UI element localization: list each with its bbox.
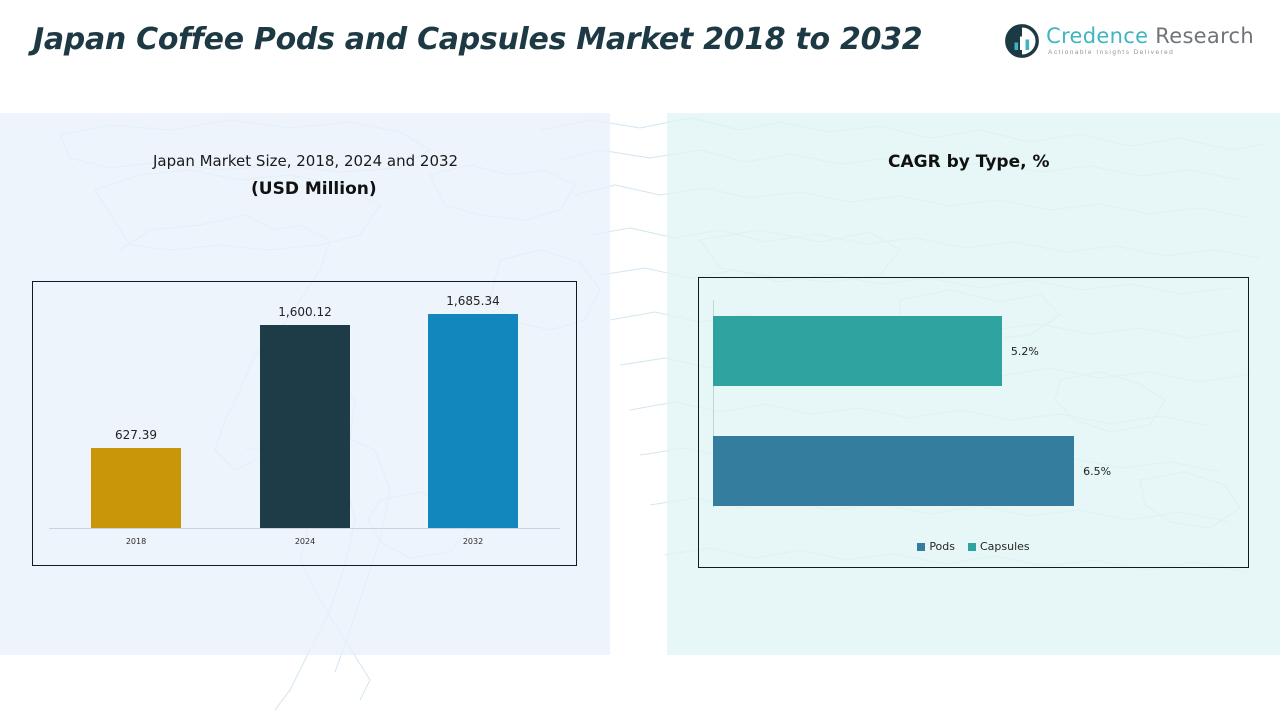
header-bar: Japan Coffee Pods and Capsules Market 20…: [0, 0, 1280, 113]
column-value-label-2032: 1,685.34: [446, 294, 499, 308]
column-bar-2024: 1,600.12 2024: [260, 325, 350, 528]
bar-chart-circle-icon: [1005, 24, 1039, 58]
logo-tagline: Actionable Insights Delivered: [1048, 50, 1254, 56]
credence-research-logo: Credence Research Actionable Insights De…: [1005, 24, 1254, 58]
logo-name-secondary: Research: [1148, 24, 1254, 48]
legend-swatch-capsules: [968, 543, 976, 551]
right-chart-heading: CAGR by Type, %: [888, 152, 1050, 172]
legend-swatch-pods: [917, 543, 925, 551]
logo-text-block: Credence Research Actionable Insights De…: [1046, 26, 1254, 56]
page-title: Japan Coffee Pods and Capsules Market 20…: [33, 18, 1013, 62]
bar-plot-area: 5.2% 6.5%: [713, 300, 1234, 507]
legend-item-pods: Pods: [917, 540, 955, 553]
column-category-label-2018: 2018: [126, 537, 146, 546]
bar-value-label-capsules: 5.2%: [1011, 345, 1039, 358]
legend-item-capsules: Capsules: [968, 540, 1030, 553]
logo-name: Credence Research: [1046, 26, 1254, 47]
column-bar-2018: 627.39 2018: [91, 448, 181, 528]
column-bar-2032: 1,685.34 2032: [428, 314, 518, 528]
cagr-by-type-bar-chart: 5.2% 6.5% Pods Capsules: [698, 277, 1249, 568]
legend-label-capsules: Capsules: [980, 540, 1030, 553]
market-size-column-chart: 627.39 2018 1,600.12 2024 1,685.34 2032: [32, 281, 577, 566]
left-chart-heading-line1: Japan Market Size, 2018, 2024 and 2032: [153, 152, 458, 170]
bar-rect-capsules: [713, 316, 1002, 386]
column-plot-area: 627.39 2018 1,600.12 2024 1,685.34 2032: [43, 290, 566, 529]
bar-row-pods: 6.5%: [713, 436, 1111, 506]
column-value-label-2024: 1,600.12: [278, 305, 331, 319]
legend-label-pods: Pods: [929, 540, 955, 553]
column-category-label-2032: 2032: [463, 537, 483, 546]
column-value-label-2018: 627.39: [115, 428, 157, 442]
column-category-label-2024: 2024: [295, 537, 315, 546]
bar-rect-pods: [713, 436, 1074, 506]
logo-name-primary: Credence: [1046, 24, 1148, 48]
bar-value-label-pods: 6.5%: [1083, 465, 1111, 478]
bar-chart-legend: Pods Capsules: [699, 540, 1248, 553]
bar-row-capsules: 5.2%: [713, 316, 1039, 386]
left-chart-heading-line2: (USD Million): [251, 179, 377, 199]
column-chart-baseline: [49, 528, 560, 529]
